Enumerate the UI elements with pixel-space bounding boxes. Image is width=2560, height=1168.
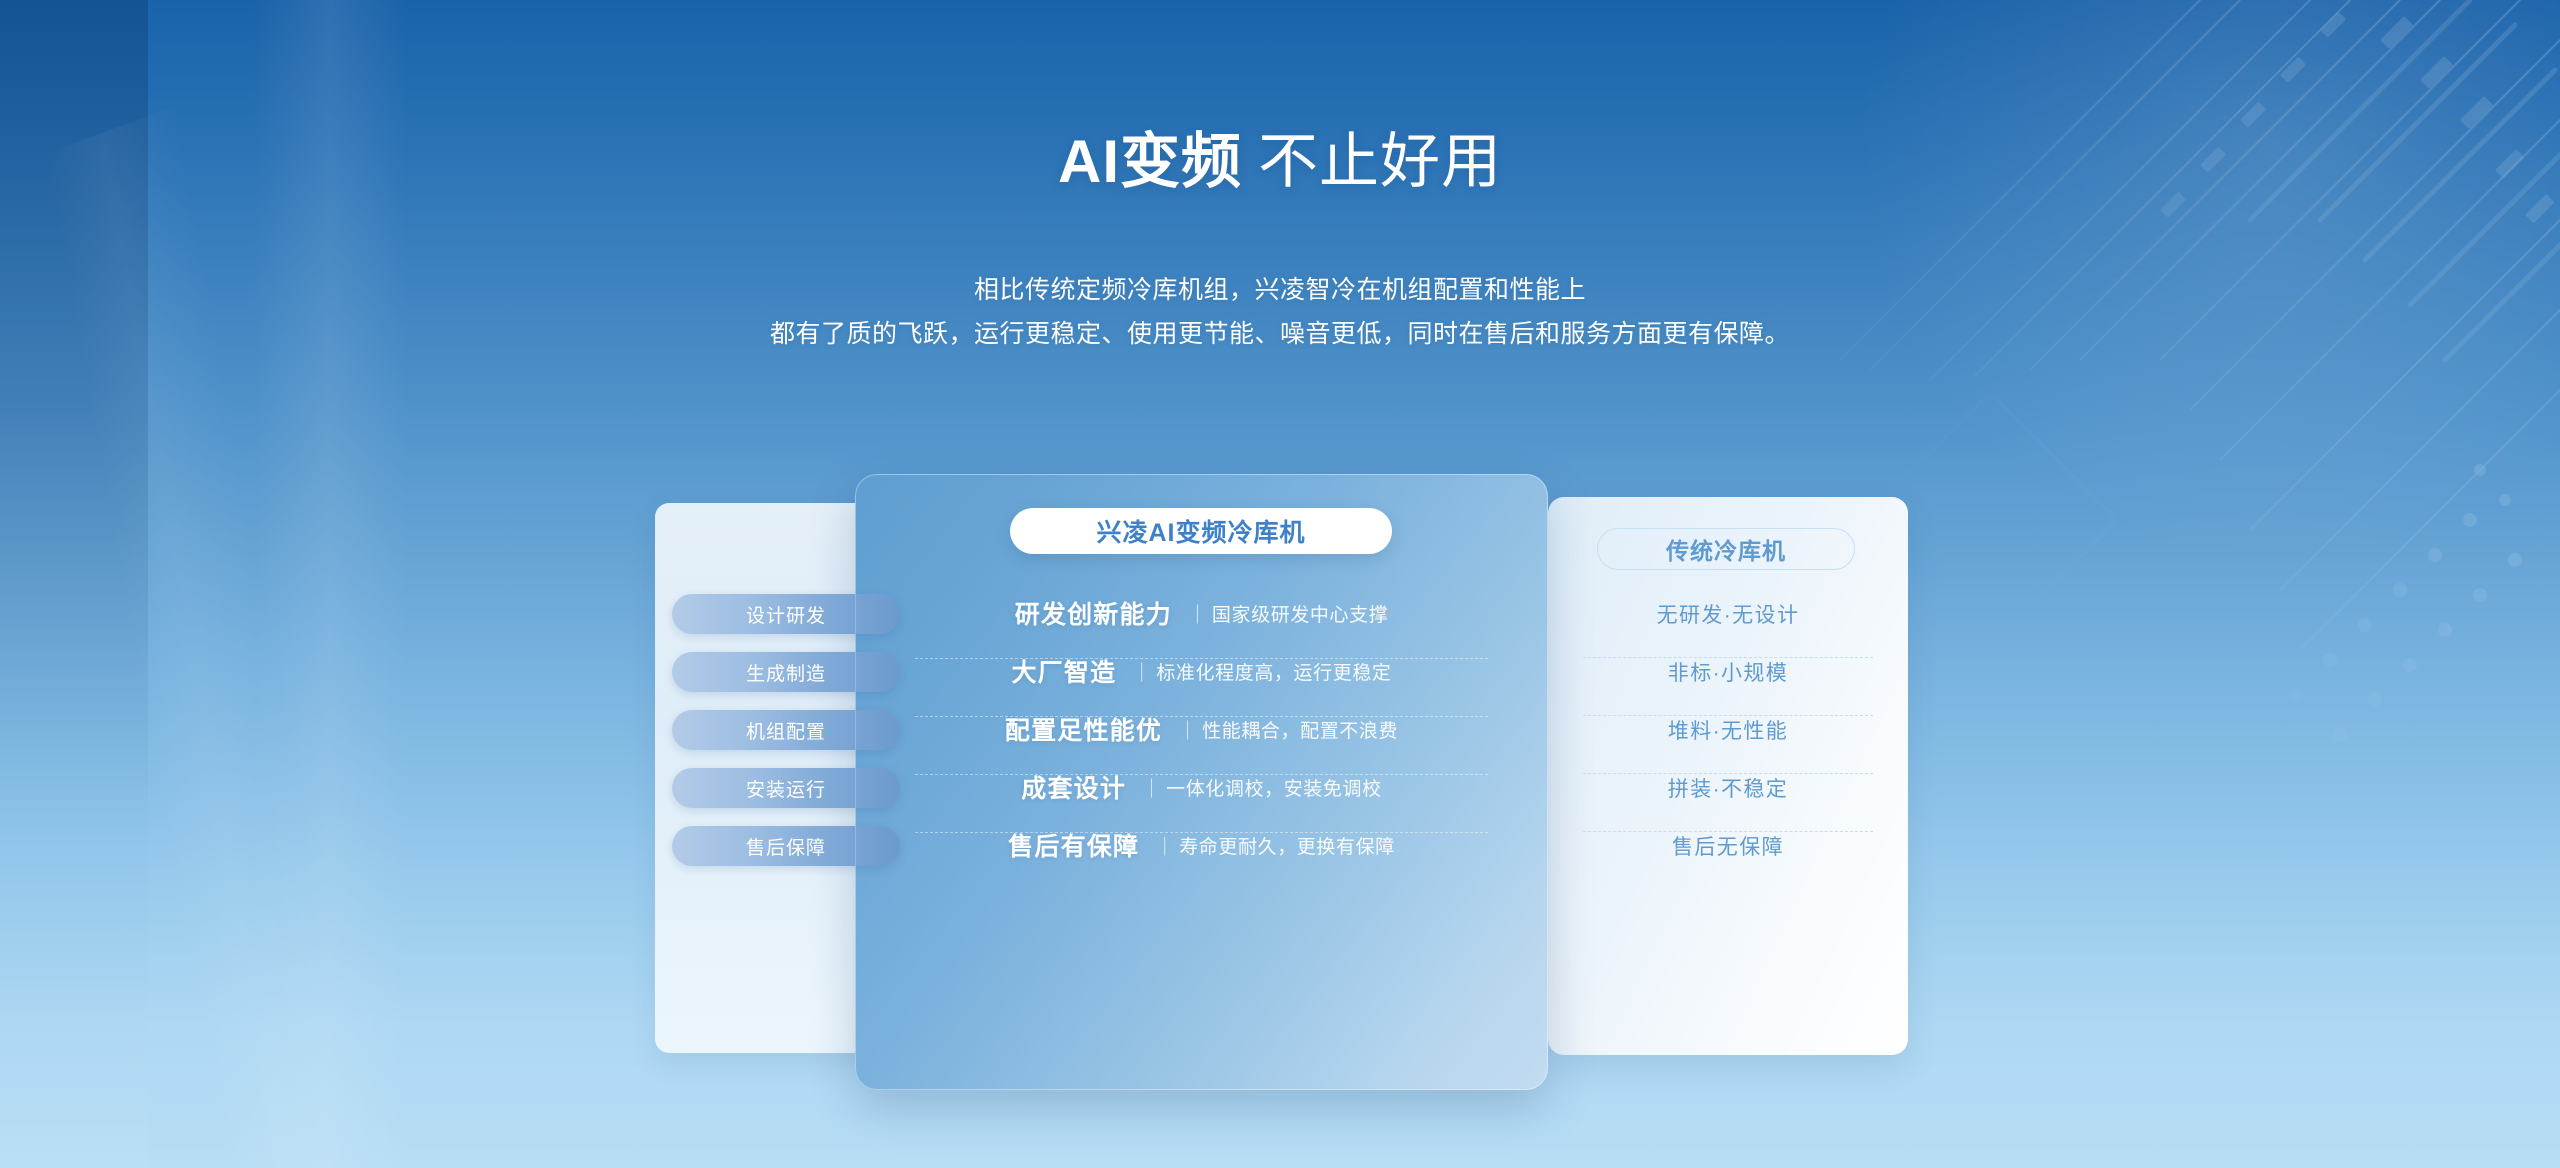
stage-pill-design-rd[interactable]: 设计研发 <box>672 594 900 634</box>
traditional-row-design-rd: 无研发·无设计 <box>1548 598 1908 630</box>
stage-pill-after-sales[interactable]: 售后保障 <box>672 826 900 866</box>
traditional-row-manufacturing: 非标·小规模 <box>1548 656 1908 688</box>
hero-section: AI变频不止好用 相比传统定频冷库机组，兴凌智冷在机组配置和性能上 都有了质的飞… <box>0 0 2560 1168</box>
stage-pill-manufacturing[interactable]: 生成制造 <box>672 652 900 692</box>
traditional-row-after-sales: 售后无保障 <box>1548 830 1908 862</box>
stage-pill-install-run[interactable]: 安装运行 <box>672 768 900 808</box>
product-highlight-card <box>855 474 1548 1090</box>
comparison-block: 兴凌AI变频冷库机 传统冷库机 设计研发 生成制造 机组配置 安装运行 售后保障… <box>0 0 2560 1168</box>
stage-pill-unit-config[interactable]: 机组配置 <box>672 710 900 750</box>
traditional-row-install-run: 拼装·不稳定 <box>1548 772 1908 804</box>
traditional-row-unit-config: 堆料·无性能 <box>1548 714 1908 746</box>
product-card-title: 兴凌AI变频冷库机 <box>1010 508 1392 554</box>
traditional-card-title: 传统冷库机 <box>1597 528 1855 570</box>
